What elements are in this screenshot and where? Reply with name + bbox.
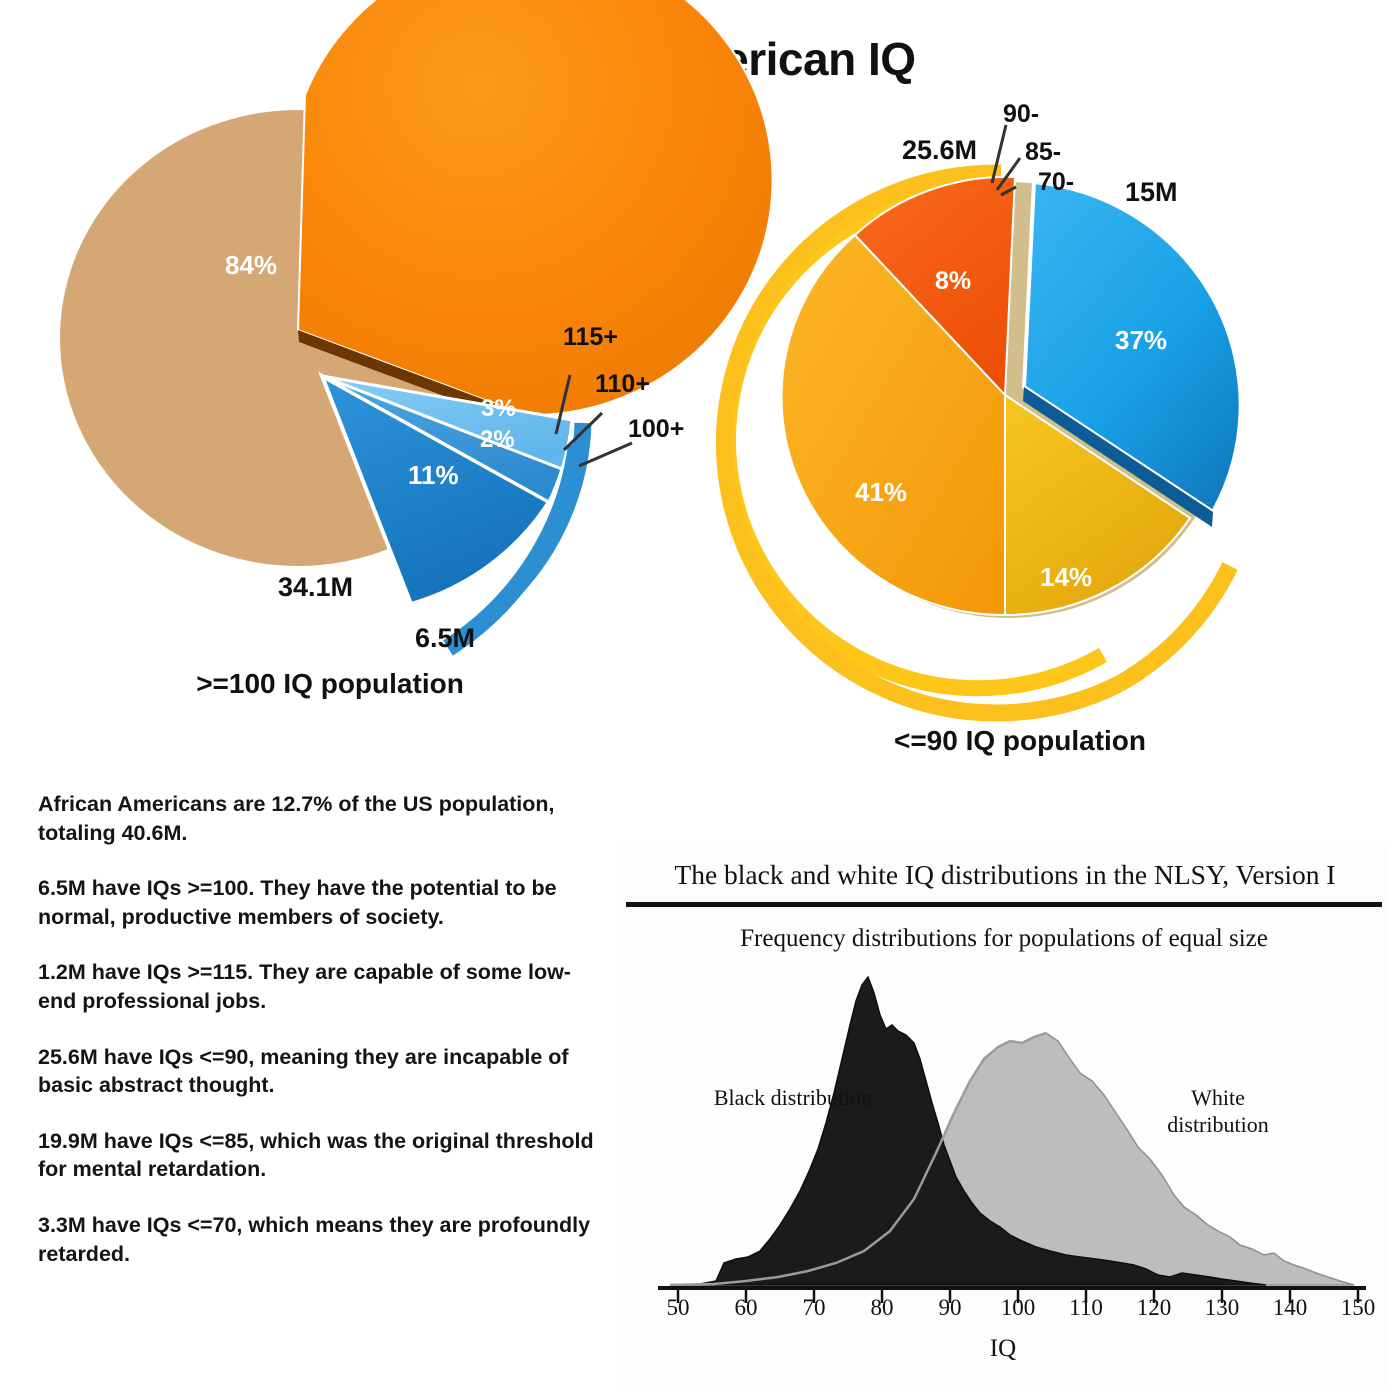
chart-ge100-iq-population: 84% 11% 2% 3% 115+ 110+ 100+ 34.1M 6.5M …: [40, 95, 700, 735]
nlsy-tick-50: 50: [667, 1295, 690, 1321]
text-paragraph-2: 6.5M have IQs >=100. They have the poten…: [38, 874, 608, 931]
callout-85-minus: 85-: [1025, 138, 1061, 167]
chart-le90-iq-population: 37% 14% 41% 8% 90- 85- 70- 25.6M 15M <=9…: [720, 95, 1380, 795]
value-label-34-1m: 34.1M: [278, 572, 353, 603]
nlsy-tick-70: 70: [803, 1295, 826, 1321]
callout-70-minus: 70-: [1038, 168, 1074, 197]
nlsy-x-axis-label: IQ: [618, 1335, 1388, 1363]
value-label-15m: 15M: [1125, 177, 1178, 208]
summary-text-block: African Americans are 12.7% of the US po…: [38, 790, 608, 1268]
nlsy-tick-110: 110: [1069, 1295, 1103, 1321]
callout-110-plus: 110+: [595, 370, 650, 399]
nlsy-tick-90: 90: [939, 1295, 962, 1321]
nlsy-tick-60: 60: [735, 1295, 758, 1321]
nlsy-tick-150: 150: [1341, 1295, 1376, 1321]
nlsy-distribution-figure: The black and white IQ distributions in …: [618, 845, 1388, 1390]
nlsy-tick-120: 120: [1137, 1295, 1172, 1321]
infographic-page: African American IQ: [0, 0, 1400, 1400]
text-paragraph-1: African Americans are 12.7% of the US po…: [38, 790, 608, 847]
nlsy-title-rule: [626, 902, 1382, 907]
nlsy-tick-80: 80: [871, 1295, 894, 1321]
nlsy-title: The black and white IQ distributions in …: [626, 859, 1384, 891]
right-pie-caption: <=90 IQ population: [750, 725, 1290, 757]
text-paragraph-5: 19.9M have IQs <=85, which was the origi…: [38, 1127, 608, 1184]
value-label-6-5m: 6.5M: [415, 623, 475, 654]
nlsy-tick-140: 140: [1273, 1295, 1308, 1321]
nlsy-tick-130: 130: [1205, 1295, 1240, 1321]
text-paragraph-6: 3.3M have IQs <=70, which means they are…: [38, 1211, 608, 1268]
value-label-25-6m: 25.6M: [902, 135, 977, 166]
nlsy-subtitle: Frequency distributions for populations …: [626, 925, 1382, 953]
callout-100-plus: 100+: [628, 415, 684, 444]
nlsy-tick-100: 100: [1001, 1295, 1036, 1321]
text-paragraph-4: 25.6M have IQs <=90, meaning they are in…: [38, 1043, 608, 1100]
text-paragraph-3: 1.2M have IQs >=115. They are capable of…: [38, 958, 608, 1015]
callout-115-plus: 115+: [563, 323, 618, 352]
black-distribution-label: Black distribution: [713, 1085, 873, 1112]
white-distribution-label: White distribution: [1138, 1085, 1298, 1139]
callout-90-minus: 90-: [1003, 100, 1039, 129]
left-pie-caption: >=100 IQ population: [40, 668, 620, 700]
